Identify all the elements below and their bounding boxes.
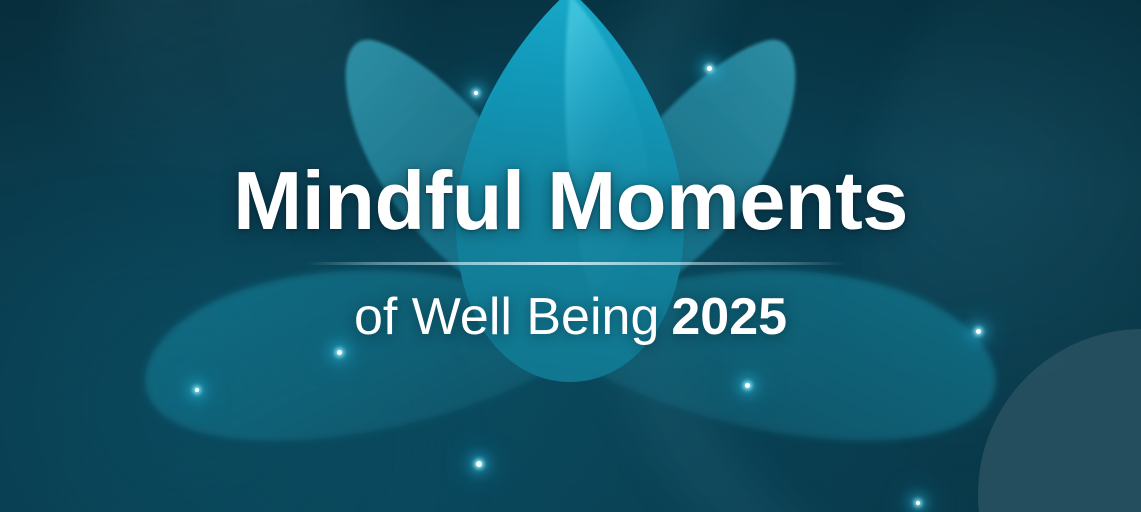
mindful-moments-banner: Mindful Moments of Well Being2025 bbox=[0, 0, 1141, 512]
banner-title: Mindful Moments bbox=[0, 159, 1141, 242]
banner-subtitle-text: of Well Being bbox=[354, 288, 659, 346]
banner-subtitle: of Well Being2025 bbox=[0, 288, 1141, 346]
banner-text-layer: Mindful Moments of Well Being2025 bbox=[0, 0, 1141, 512]
banner-subtitle-year: 2025 bbox=[671, 288, 787, 346]
title-divider bbox=[306, 262, 846, 265]
